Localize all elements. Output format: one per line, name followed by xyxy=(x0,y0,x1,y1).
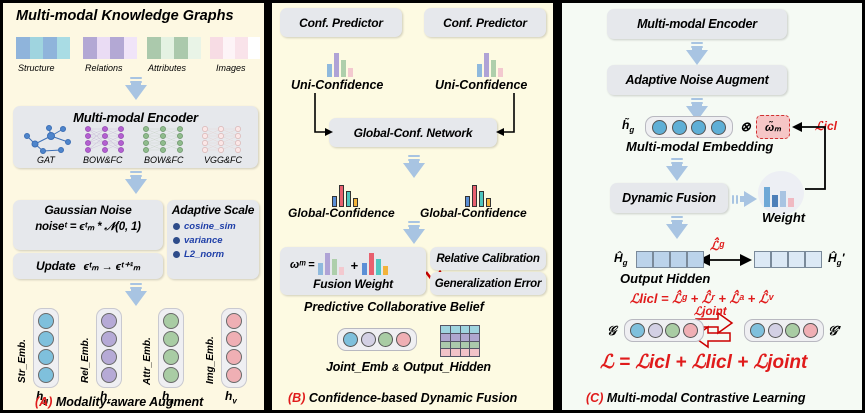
adaptive-item-cosine-sim: cosine_sim xyxy=(184,221,236,232)
multimodal-embedding-pill xyxy=(645,116,733,138)
weight-label: Weight xyxy=(762,210,805,225)
noise-augment-label: Adaptive Noise Augment xyxy=(625,73,768,87)
joint-output-caption-row: Joint_Emb & Output_Hidden xyxy=(326,360,491,374)
panelc-encoder-label: Multi-modal Encoder xyxy=(637,17,757,31)
embedding-symbol-hv: hv xyxy=(225,389,237,405)
embedding-pill-structure xyxy=(33,308,59,388)
joint-emb-label: Joint_Emb xyxy=(326,360,388,374)
encoder-net-label-gat: GAT xyxy=(37,155,55,165)
bullet-icon-3 xyxy=(173,251,180,258)
dynamic-fusion-box: Dynamic Fusion xyxy=(610,183,728,213)
arrow-down-to-noise xyxy=(125,171,147,197)
fusion-weight-box: ωᵐ = + Fusion Weight xyxy=(280,247,426,295)
arrow-down-to-encoder xyxy=(125,77,147,103)
emb-vlabel-img: Img_Emb. xyxy=(205,310,216,384)
fusion-bars-b xyxy=(362,253,390,275)
graph-nodes-left-pill xyxy=(624,319,704,342)
h-hat-g-prime-symbol: Ĥg′ xyxy=(828,251,844,267)
relative-calibration-box: Relative Calibration xyxy=(430,247,546,270)
multimodal-embedding-label: Multi-modal Embedding xyxy=(626,139,773,154)
modality-label-attributes: Attributes xyxy=(148,63,186,73)
panel-a-caption-tag: (A) xyxy=(35,395,52,409)
fusion-weight-label: Fusion Weight xyxy=(280,277,426,291)
h-tilde-g-symbol: h̃g xyxy=(622,118,634,134)
global-confidence-right-label: Global-Confidence xyxy=(420,206,527,220)
panel-a-title: Multi-modal Knowledge Graphs xyxy=(16,8,234,24)
panel-a-caption-text: Modality-aware Augment xyxy=(56,395,203,409)
loss-icl-label: ℒicl xyxy=(815,119,837,133)
panel-c-caption-text: Multi-modal Contrastive Learning xyxy=(607,391,806,405)
adaptive-item-variance: variance xyxy=(184,235,223,246)
embedding-pill-relations xyxy=(96,308,122,388)
uni-confidence-bars-left xyxy=(327,51,355,77)
adaptive-scale-title: Adaptive Scale xyxy=(167,203,259,217)
encoder-net-label-bowfc-2: BOW&FC xyxy=(144,155,184,165)
panel-b-caption-text: Confidence-based Dynamic Fusion xyxy=(309,391,517,405)
panelc-encoder-box: Multi-modal Encoder xyxy=(607,9,787,39)
arrow-down-to-global-conf xyxy=(403,155,425,181)
modality-strip-structure xyxy=(16,37,70,59)
panel-b-caption: (B) Confidence-based Dynamic Fusion xyxy=(288,391,517,405)
uni-confidence-right-label: Uni-Confidence xyxy=(435,78,527,92)
embedding-pill-attributes xyxy=(158,308,184,388)
global-conf-network-label: Global-Conf. Network xyxy=(354,126,473,140)
omega-formula: ωᵐ = xyxy=(290,259,314,271)
graph-symbol-right: 𝒢′ xyxy=(828,323,840,339)
bullet-icon-2 xyxy=(173,237,180,244)
emb-vlabel-str: Str_Emb. xyxy=(17,311,28,383)
output-hidden-label: Output_Hidden xyxy=(403,360,491,374)
modality-strip-attributes xyxy=(147,37,201,59)
arrow-down-to-dynamic-fusion xyxy=(666,158,688,184)
modality-strip-images xyxy=(210,37,260,59)
adaptive-scale-box: Adaptive Scale cosine_sim variance L2_no… xyxy=(167,200,259,279)
predictive-belief-label: Predictive Collaborative Belief xyxy=(304,300,484,314)
panel-c-caption: (C) Multi-modal Contrastive Learning xyxy=(586,391,805,405)
update-formula: ϵᵗₘ → ϵᵗ⁺¹ₘ xyxy=(84,259,140,273)
encoder-net-label-vggfc: VGG&FC xyxy=(204,155,242,165)
noise-augment-box: Adaptive Noise Augment xyxy=(607,65,787,95)
emb-vlabel-attr: Attr_Emb. xyxy=(142,309,153,385)
embedding-pill-images xyxy=(221,308,247,388)
encoder-network-glyphs xyxy=(13,126,258,156)
joint-embedding-pill xyxy=(337,328,417,351)
conf-predictor-right-label: Conf. Predictor xyxy=(443,16,527,30)
output-hidden-grid xyxy=(440,325,480,357)
arrow-right-to-weight xyxy=(732,191,758,207)
panel-b-confidence-fusion: Conf. Predictor Conf. Predictor Uni-Conf… xyxy=(272,3,553,410)
global-confidence-bars-right xyxy=(465,183,493,207)
graph-symbol-left: 𝒢 xyxy=(607,323,616,339)
multimodal-encoder-box: Multi-modal Encoder xyxy=(13,106,258,168)
h-hat-g-symbol: Ĥg xyxy=(614,251,628,267)
gaussian-noise-title: Gaussian Noise xyxy=(13,203,163,217)
total-loss-formula: ℒ = ℒicl + ℒlicl + ℒjoint xyxy=(600,351,807,374)
conf-predictor-left-label: Conf. Predictor xyxy=(299,16,383,30)
output-hidden-cells-right xyxy=(754,251,822,268)
arrow-down-to-fusion-weight xyxy=(403,221,425,247)
loss-g-label: ℒ̂ᵍ xyxy=(710,238,724,253)
modality-label-images: Images xyxy=(216,63,246,73)
panel-c-contrastive-learning: Multi-modal Encoder Adaptive Noise Augme… xyxy=(562,3,862,410)
arrow-down-to-embeddings xyxy=(125,283,147,309)
fusion-bars-a xyxy=(318,253,346,275)
update-box: Update ϵᵗₘ → ϵᵗ⁺¹ₘ xyxy=(13,253,163,279)
update-label: Update xyxy=(36,259,75,273)
gaussian-noise-box: Gaussian Noise noiseᵗ = ϵᵗₘ * 𝒩(0, 1) xyxy=(13,200,163,250)
panel-b-caption-tag: (B) xyxy=(288,391,305,405)
panel-a-caption: (A) Modality-aware Augment xyxy=(35,395,203,409)
conf-predictor-right-box: Conf. Predictor xyxy=(424,8,546,37)
relative-calibration-label: Relative Calibration xyxy=(436,253,539,265)
output-hidden-caption: Output Hidden xyxy=(620,271,710,286)
weight-bars xyxy=(764,179,796,207)
modality-label-relations: Relations xyxy=(85,63,123,73)
omega-tilde-box: ω̃ₘ xyxy=(756,115,790,139)
conf-predictor-left-box: Conf. Predictor xyxy=(280,8,402,37)
loss-joint-label: ℒjoint xyxy=(694,304,727,318)
output-hidden-cells-left xyxy=(636,251,704,268)
generalization-error-box: Generalization Error xyxy=(430,272,546,295)
bullet-icon-1 xyxy=(173,223,180,230)
figure-root: Multi-modal Knowledge Graphs Structure R… xyxy=(0,0,865,413)
uni-confidence-left-label: Uni-Confidence xyxy=(291,78,383,92)
global-conf-network-box: Global-Conf. Network xyxy=(329,118,497,147)
panel-c-caption-tag: (C) xyxy=(586,391,603,405)
encoder-net-label-bowfc-1: BOW&FC xyxy=(83,155,123,165)
uni-confidence-bars-right xyxy=(477,51,505,77)
arrow-down-to-output-hidden xyxy=(666,216,688,242)
gaussian-noise-formula: noiseᵗ = ϵᵗₘ * 𝒩(0, 1) xyxy=(13,219,163,234)
adaptive-item-l2-norm: L2_norm xyxy=(184,249,224,260)
generalization-error-label: Generalization Error xyxy=(435,278,542,290)
ampersand: & xyxy=(392,363,399,374)
omega-tilde-label: ω̃ₘ xyxy=(765,121,781,134)
panel-a-modality-aware-augment: Multi-modal Knowledge Graphs Structure R… xyxy=(3,3,264,410)
modality-strip-relations xyxy=(83,37,137,59)
global-confidence-left-label: Global-Confidence xyxy=(288,206,395,220)
plus-sign: + xyxy=(350,258,357,273)
graph-nodes-right-pill xyxy=(744,319,824,342)
otimes-symbol: ⊗ xyxy=(740,119,751,135)
emb-vlabel-rel: Rel_Emb. xyxy=(80,311,91,383)
dynamic-fusion-label: Dynamic Fusion xyxy=(622,191,716,205)
encoder-title: Multi-modal Encoder xyxy=(13,110,258,125)
modality-label-structure: Structure xyxy=(18,63,55,73)
global-confidence-bars-left xyxy=(332,183,360,207)
